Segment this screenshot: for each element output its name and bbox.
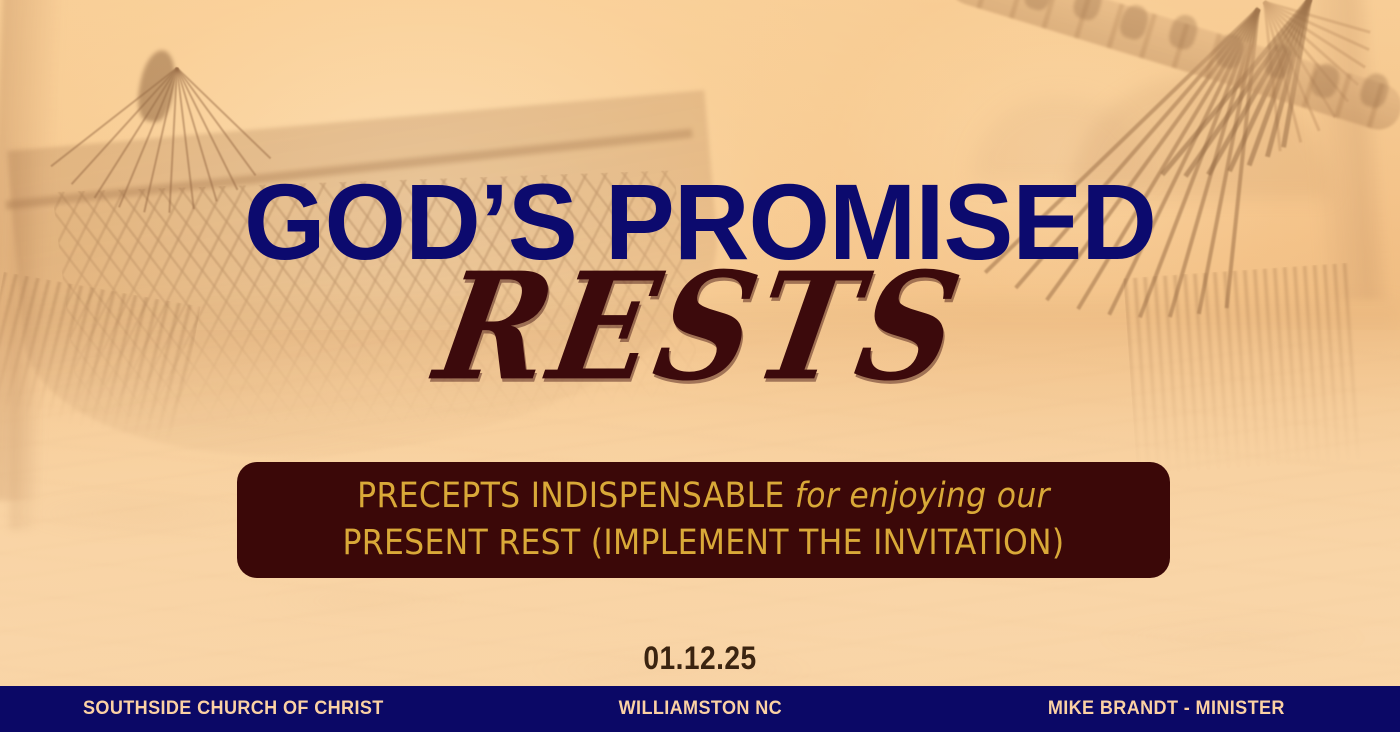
- sermon-date: 01.12.25: [84, 640, 1316, 677]
- subtitle-line1-italic: for enjoying our: [785, 476, 1050, 516]
- subtitle-line2: PRESENT REST (IMPLEMENT THE INVITATION): [343, 523, 1065, 563]
- sermon-title-slide: GOD’S PROMISED RESTS PRECEPTS INDISPENSA…: [0, 0, 1400, 732]
- slide-content: GOD’S PROMISED RESTS PRECEPTS INDISPENSA…: [0, 0, 1400, 732]
- footer-bar: SOUTHSIDE CHURCH OF CHRIST WILLIAMSTON N…: [0, 686, 1400, 732]
- sermon-title-script-word: RESTS: [0, 254, 1400, 402]
- subtitle-banner: PRECEPTS INDISPENSABLE for enjoying our …: [237, 462, 1170, 578]
- footer-church-name: SOUTHSIDE CHURCH OF CHRIST: [12, 698, 455, 720]
- subtitle-line1-caps: PRECEPTS INDISPENSABLE: [357, 476, 784, 516]
- footer-location: WILLIAMSTON NC: [478, 698, 921, 720]
- footer-minister: MIKE BRANDT - MINISTER: [945, 698, 1388, 720]
- subtitle-text: PRECEPTS INDISPENSABLE for enjoying our …: [343, 473, 1065, 566]
